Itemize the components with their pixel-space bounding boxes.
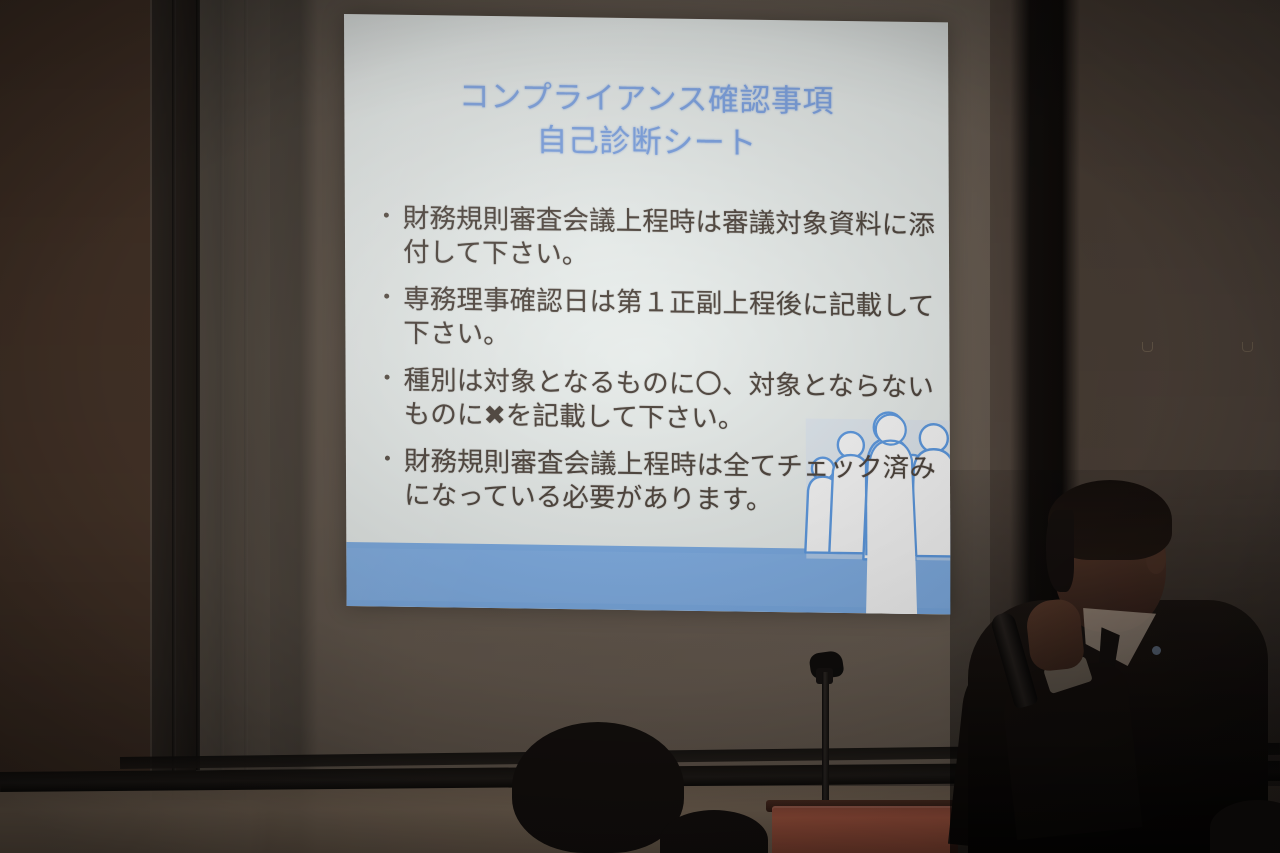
photo-vignette: [0, 0, 1280, 853]
presentation-room-photo: コンプライアンス確認事項 自己診断シート 財務規則審査会議上程時は審議対象資料に…: [0, 0, 1280, 853]
